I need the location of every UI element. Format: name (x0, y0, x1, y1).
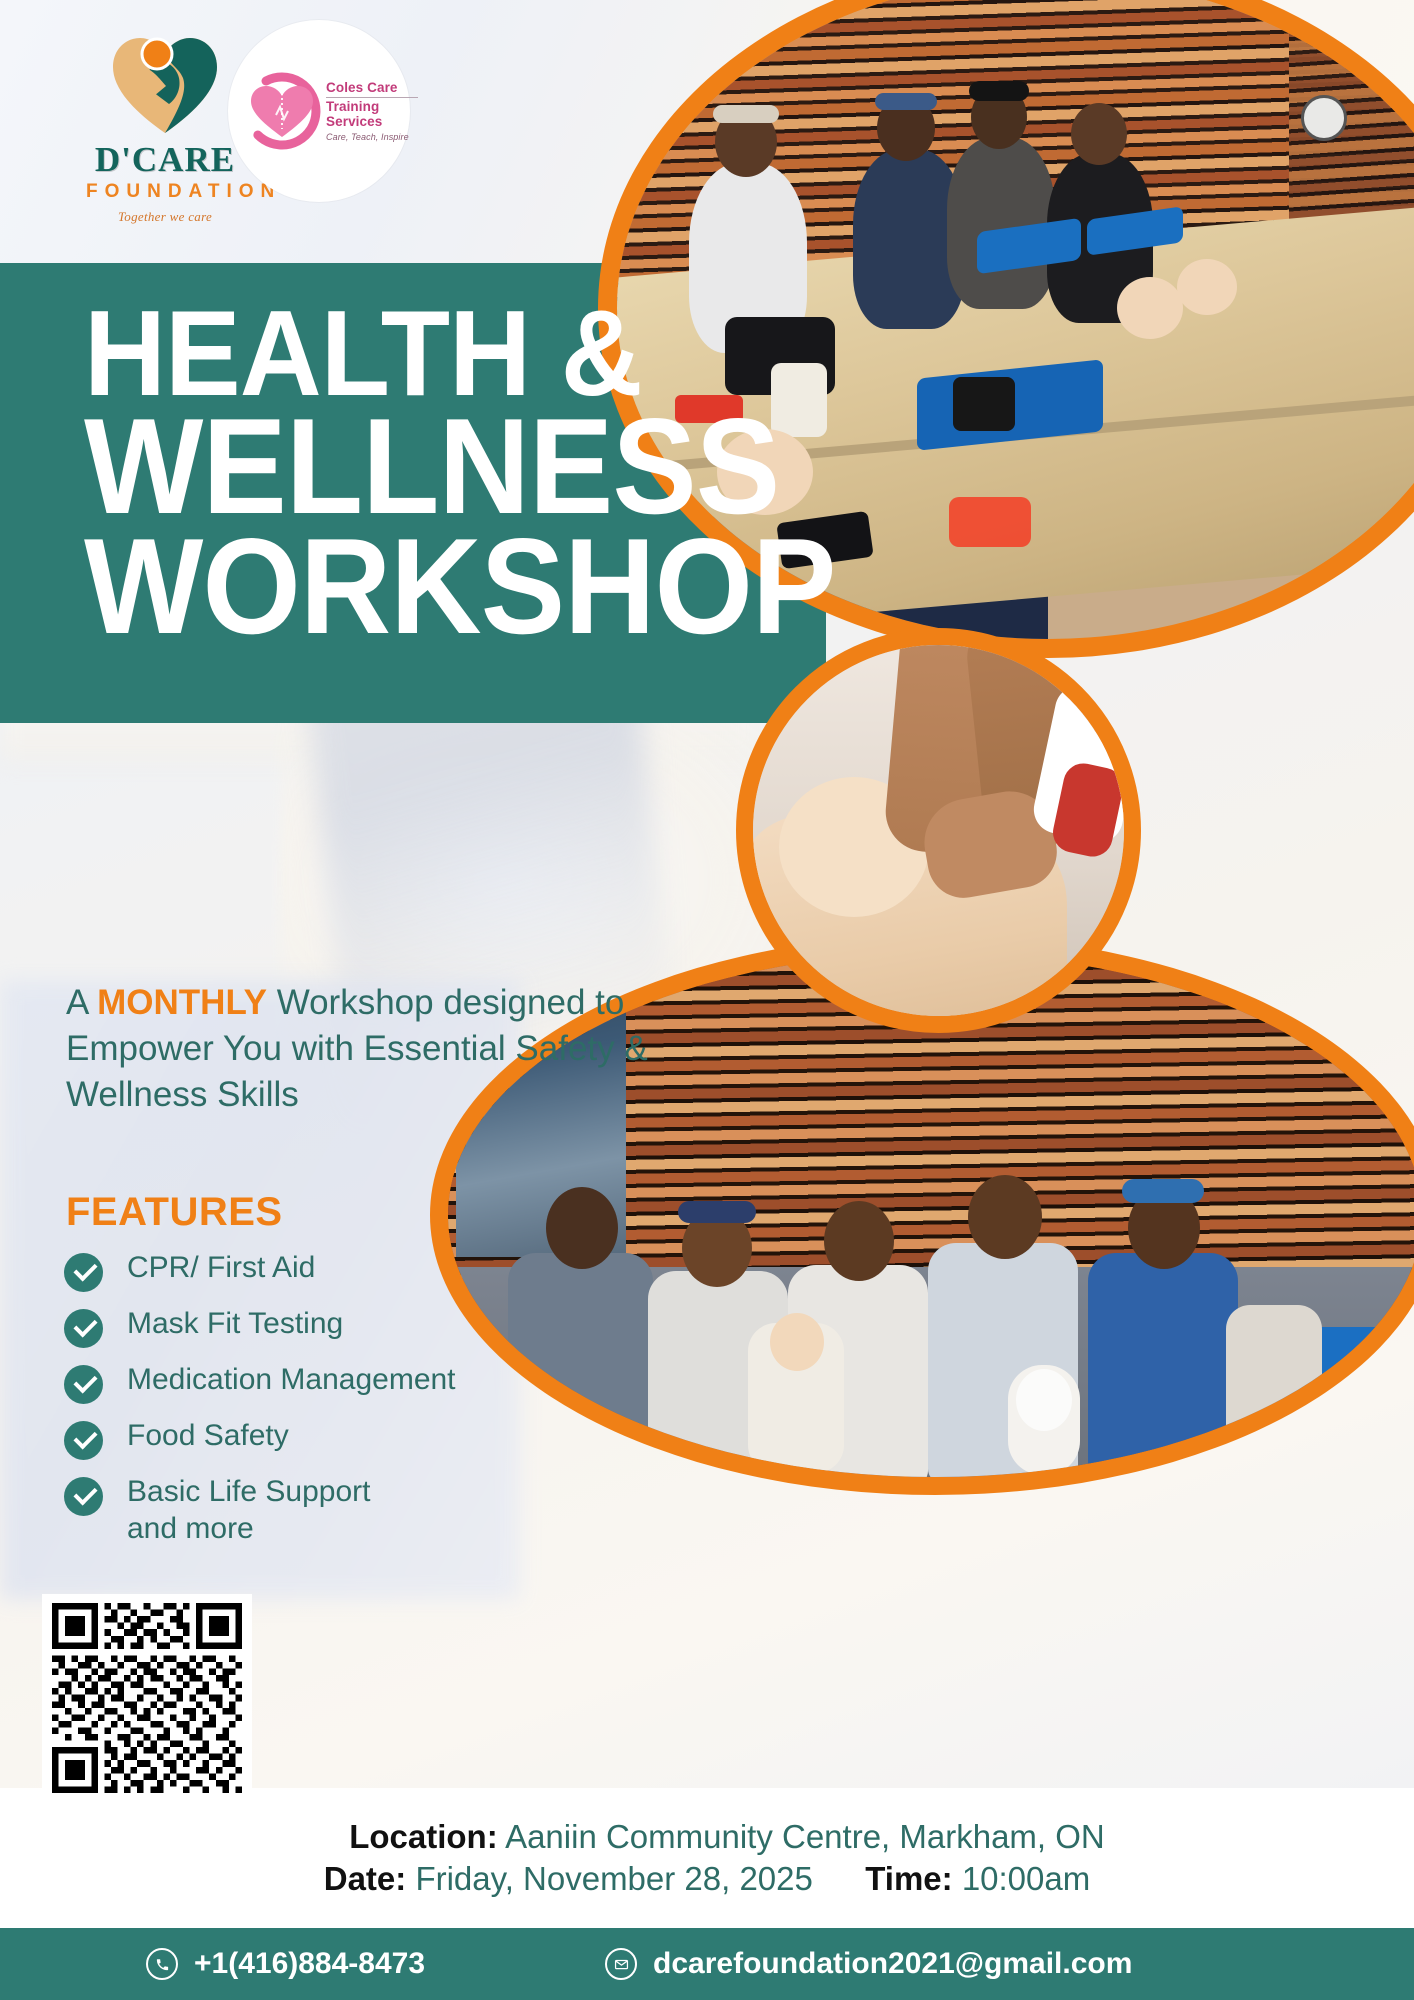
poster-canvas: D'CARE FOUNDATION Together we care Coles… (0, 0, 1414, 2000)
time-label: Time: (865, 1860, 952, 1897)
subtitle-pre: A (66, 983, 97, 1022)
list-item: Basic Life Support and more (64, 1474, 534, 1547)
feature-label: Medication Management (127, 1362, 456, 1399)
feature-label-group: Basic Life Support and more (127, 1474, 370, 1547)
location-value: Aaniin Community Centre, Markham, ON (505, 1818, 1105, 1855)
email-contact[interactable]: dcarefoundation2021@gmail.com (605, 1947, 1132, 1981)
title-line-3: WORKSHOP (84, 527, 735, 647)
manikin-head (1117, 277, 1183, 339)
list-item: Food Safety (64, 1418, 534, 1460)
coles-care-line1: Coles Care (326, 80, 418, 96)
date-time-row: Date: Friday, November 28, 2025 Time: 10… (324, 1858, 1091, 1900)
page-title: HEALTH & WELLNESS WORKSHOP (84, 300, 784, 647)
coles-care-logo: Coles Care Training Services Care, Teach… (228, 20, 410, 202)
feature-label: CPR/ First Aid (127, 1250, 315, 1287)
phone-contact[interactable]: +1(416)884-8473 (146, 1947, 425, 1981)
participant (1088, 1253, 1238, 1485)
location-label: Location: (349, 1818, 497, 1855)
mask-manikin (1008, 1365, 1080, 1475)
email-address: dcarefoundation2021@gmail.com (653, 1947, 1132, 1981)
event-details: Location: Aaniin Community Centre, Markh… (0, 1788, 1414, 1928)
date-label: Date: (324, 1860, 407, 1897)
dcare-tagline: Together we care (80, 209, 250, 225)
features-list: CPR/ First Aid Mask Fit Testing Medicati… (64, 1250, 534, 1561)
check-circle-icon (64, 1253, 103, 1292)
heart-pulse-circle-icon (242, 71, 322, 151)
bandage-wrap (1226, 1305, 1322, 1455)
check-circle-icon (64, 1421, 103, 1460)
feature-label: Food Safety (127, 1418, 289, 1455)
dcare-foundation-logo: D'CARE FOUNDATION Together we care (80, 28, 250, 188)
envelope-icon (605, 1948, 637, 1980)
manikin-head (1177, 259, 1237, 315)
date-value: Friday, November 28, 2025 (415, 1860, 812, 1897)
coles-care-tagline: Care, Teach, Inspire (326, 132, 418, 142)
subtitle-highlight: MONTHLY (97, 983, 267, 1022)
feature-label: Mask Fit Testing (127, 1306, 343, 1343)
phone-number: +1(416)884-8473 (194, 1947, 425, 1981)
red-equipment (949, 497, 1031, 547)
check-circle-icon (64, 1477, 103, 1516)
dcare-wordmark: D'CARE (80, 142, 250, 177)
contact-bar: +1(416)884-8473 dcarefoundation2021@gmai… (0, 1928, 1414, 2000)
check-circle-icon (64, 1365, 103, 1404)
list-item: Mask Fit Testing (64, 1306, 534, 1348)
check-circle-icon (64, 1309, 103, 1348)
wall-clock-icon (1301, 95, 1347, 141)
hand-heart-icon (95, 28, 235, 140)
subtitle: A MONTHLY Workshop designed to Empower Y… (66, 980, 686, 1118)
equipment-case (953, 377, 1015, 431)
feature-label-more: and more (127, 1511, 370, 1548)
location-row: Location: Aaniin Community Centre, Markh… (309, 1816, 1105, 1858)
coles-care-text: Coles Care Training Services Care, Teach… (326, 80, 418, 142)
qr-code-image (51, 1603, 243, 1793)
qr-code[interactable] (42, 1594, 252, 1802)
coles-divider (326, 97, 418, 98)
red-equipment (1316, 1397, 1388, 1459)
list-item: CPR/ First Aid (64, 1250, 534, 1292)
phone-icon (146, 1948, 178, 1980)
feature-label: Basic Life Support (127, 1475, 370, 1508)
coles-care-line2: Training Services (326, 99, 418, 130)
list-item: Medication Management (64, 1362, 534, 1404)
infant-manikin (748, 1323, 844, 1473)
photo-cpr-compressions (736, 628, 1141, 1033)
dcare-foundation-label: FOUNDATION (80, 181, 250, 203)
features-heading: FEATURES (66, 1190, 283, 1235)
time-value: 10:00am (962, 1860, 1090, 1897)
